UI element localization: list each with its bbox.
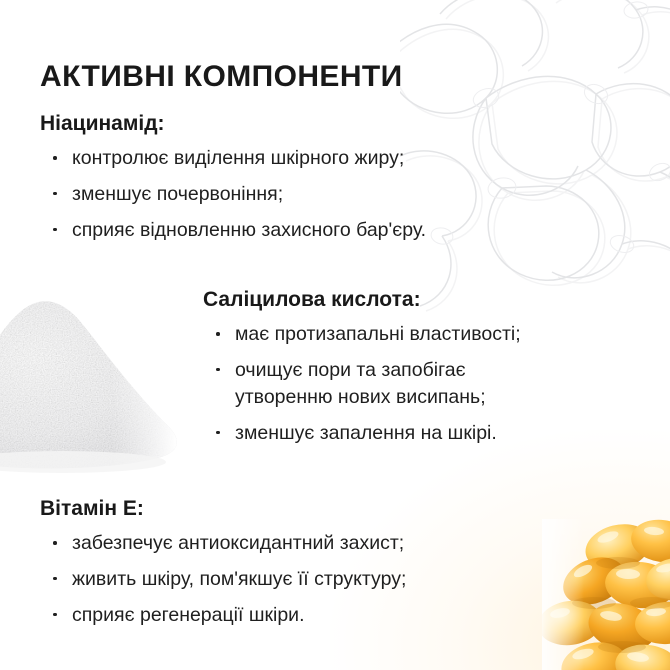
ingredient-block-salicylic-acid: Саліцилова кислота: має протизапальні вл…	[203, 288, 521, 447]
poster-canvas: АКТИВНІ КОМПОНЕНТИ Ніацинамід: контролює…	[0, 0, 670, 670]
bullet-dot-icon	[53, 613, 57, 617]
list-item: зменшує почервоніння;	[40, 181, 426, 208]
list-item-text: зменшує запалення на шкірі.	[235, 422, 497, 444]
list-item: зменшує запалення на шкірі.	[203, 420, 521, 447]
bullet-dot-icon	[216, 368, 220, 372]
list-item-text: сприяє відновленню захисного бар'єру.	[72, 219, 426, 241]
benefit-list-niacinamide: контролює виділення шкірного жиру; зменш…	[40, 145, 426, 244]
bullet-dot-icon	[216, 431, 220, 435]
page-title: АКТИВНІ КОМПОНЕНТИ	[40, 60, 403, 94]
list-item: сприяє регенерації шкіри.	[40, 602, 406, 629]
list-item-text: контролює виділення шкірного жиру;	[72, 147, 404, 169]
list-item: очищує пори та запобігає утворенню нових…	[203, 357, 507, 411]
benefit-list-salicylic-acid: має протизапальні властивості; очищує по…	[203, 321, 521, 447]
ingredient-heading-vitamin-e: Вітамін Е:	[40, 497, 406, 521]
list-item-text: очищує пори та запобігає утворенню нових…	[235, 359, 486, 408]
bullet-dot-icon	[53, 228, 57, 232]
list-item-text: забезпечує антиоксидантний захист;	[72, 532, 404, 554]
bullet-dot-icon	[53, 192, 57, 196]
content-layer: АКТИВНІ КОМПОНЕНТИ Ніацинамід: контролює…	[0, 0, 670, 670]
benefit-list-vitamin-e: забезпечує антиоксидантний захист; живит…	[40, 530, 406, 629]
list-item: має протизапальні властивості;	[203, 321, 521, 348]
bullet-dot-icon	[216, 332, 220, 336]
bullet-dot-icon	[53, 541, 57, 545]
bullet-dot-icon	[53, 156, 57, 160]
list-item-text: має протизапальні властивості;	[235, 323, 521, 345]
ingredient-block-vitamin-e: Вітамін Е: забезпечує антиоксидантний за…	[40, 497, 406, 629]
list-item-text: живить шкіру, пом'якшує її структуру;	[72, 568, 406, 590]
list-item: живить шкіру, пом'якшує її структуру;	[40, 566, 406, 593]
ingredient-heading-niacinamide: Ніацинамід:	[40, 112, 426, 136]
list-item-text: зменшує почервоніння;	[72, 183, 283, 205]
bullet-dot-icon	[53, 577, 57, 581]
ingredient-heading-salicylic-acid: Саліцилова кислота:	[203, 288, 521, 312]
ingredient-block-niacinamide: Ніацинамід: контролює виділення шкірного…	[40, 112, 426, 244]
list-item-text: сприяє регенерації шкіри.	[72, 604, 305, 626]
list-item: сприяє відновленню захисного бар'єру.	[40, 217, 426, 244]
list-item: контролює виділення шкірного жиру;	[40, 145, 426, 172]
list-item: забезпечує антиоксидантний захист;	[40, 530, 406, 557]
